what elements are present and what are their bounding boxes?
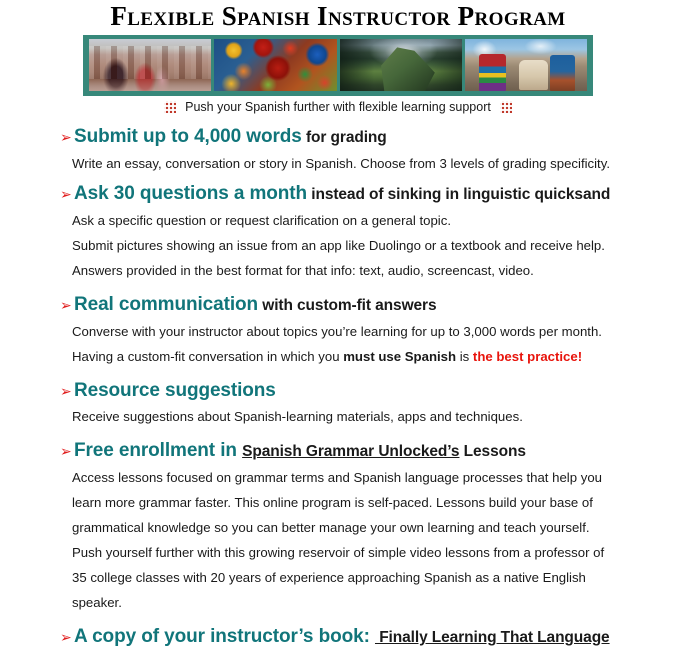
- paragraph-text: Answers provided in the best format for …: [72, 263, 534, 278]
- photo-banner: [83, 35, 593, 96]
- checkered-square-ornament-left: [164, 101, 176, 113]
- feature-paragraph: Receive suggestions about Spanish-learni…: [0, 404, 662, 429]
- paragraph-text: speaker.: [72, 595, 122, 610]
- feature-paragraph: Ask a specific question or request clari…: [0, 208, 662, 233]
- paragraph-text: Access lessons focused on grammar terms …: [72, 470, 602, 485]
- section-spacer: [0, 429, 662, 436]
- banner-image-machu-picchu-mountains: [340, 39, 462, 91]
- paragraph-text: Converse with your instructor about topi…: [72, 324, 602, 339]
- feature-heading-main: Real communication: [74, 294, 258, 315]
- paragraph-text: Push yourself further with this growing …: [72, 545, 604, 560]
- feature-heading-row: ➢Resource suggestions: [0, 376, 662, 404]
- feature-section-resource-suggestions: ➢Resource suggestionsReceive suggestions…: [0, 376, 662, 429]
- feature-section-real-communication: ➢Real communication with custom-fit answ…: [0, 290, 662, 369]
- llama-figure: [519, 60, 548, 90]
- section-spacer: [0, 283, 662, 290]
- section-spacer: [0, 369, 662, 376]
- banner-image-colonial-plaza-dancers: [89, 39, 211, 91]
- arrow-bullet-icon: ➢: [60, 126, 74, 148]
- checkered-square-ornament-right: [500, 101, 512, 113]
- banner-photo-strip: [89, 39, 587, 91]
- arrow-bullet-icon: ➢: [60, 626, 74, 648]
- paragraph-text: Submit pictures showing an issue from an…: [72, 238, 605, 253]
- paragraph-text: is: [456, 349, 473, 364]
- feature-section-a-copy-of-your-instructor-s-book: ➢A copy of your instructor’s book: Final…: [0, 622, 662, 651]
- feature-heading-main: A copy of your instructor’s book:: [74, 626, 370, 647]
- paragraph-text: grammatical knowledge so you can better …: [72, 520, 590, 535]
- section-spacer: [0, 615, 662, 622]
- feature-paragraph: 35 college classes with 20 years of expe…: [0, 565, 662, 590]
- feature-heading-main: Submit up to 4,000 words: [74, 126, 302, 147]
- paragraph-text: Ask a specific question or request clari…: [72, 213, 451, 228]
- feature-heading-sub: instead of sinking in linguistic quicksa…: [307, 186, 610, 203]
- paragraph-text: 35 college classes with 20 years of expe…: [72, 570, 586, 585]
- feature-heading-text: Real communication with custom-fit answe…: [74, 293, 662, 317]
- red-emphasis: the best practice!: [473, 349, 582, 364]
- feature-paragraph: grammatical knowledge so you can better …: [0, 515, 662, 540]
- feature-paragraph: learn more grammar faster. This online p…: [0, 490, 662, 515]
- feature-heading-main: Resource suggestions: [74, 380, 276, 401]
- feature-heading-row: ➢Free enrollment in Spanish Grammar Unlo…: [0, 436, 662, 465]
- page-title: Flexible Spanish Instructor Program: [0, 1, 676, 31]
- feature-heading-main: Ask 30 questions a month: [74, 183, 307, 204]
- feature-heading-text: Submit up to 4,000 words for grading: [74, 125, 662, 149]
- feature-paragraph: Converse with your instructor about topi…: [0, 319, 662, 344]
- arrow-bullet-icon: ➢: [60, 183, 74, 205]
- banner-image-andean-women-with-llamas: [465, 39, 587, 91]
- feature-heading-row: ➢A copy of your instructor’s book: Final…: [0, 622, 662, 651]
- feature-heading-text: Ask 30 questions a month instead of sink…: [74, 182, 662, 206]
- program-feature-list: ➢Submit up to 4,000 words for gradingWri…: [0, 122, 676, 654]
- feature-heading-sub: for grading: [302, 129, 387, 146]
- feature-heading-text: A copy of your instructor’s book: Finall…: [74, 625, 662, 649]
- feature-heading-row: ➢Submit up to 4,000 words for grading: [0, 122, 662, 151]
- banner-caption-row: Push your Spanish further with flexible …: [83, 99, 593, 115]
- feature-section-submit-up-to-4-000-words: ➢Submit up to 4,000 words for gradingWri…: [0, 122, 662, 176]
- feature-heading-sub: Lessons: [459, 443, 525, 460]
- feature-heading-sub: with custom-fit answers: [258, 297, 436, 314]
- paragraph-text: Having a custom-fit conversation in whic…: [72, 349, 343, 364]
- feature-paragraph: Submit pictures showing an issue from an…: [0, 233, 662, 258]
- feature-paragraph: Access lessons focused on grammar terms …: [0, 465, 662, 490]
- banner-caption-text: Push your Spanish further with flexible …: [185, 99, 491, 115]
- bold-emphasis: must use Spanish: [343, 349, 456, 364]
- feature-heading-main: Free enrollment in: [74, 440, 237, 461]
- arrow-bullet-icon: ➢: [60, 440, 74, 462]
- arrow-bullet-icon: ➢: [60, 380, 74, 402]
- feature-heading-underlined: Finally Learning That Language: [375, 629, 610, 646]
- feature-paragraph: speaker.: [0, 590, 662, 615]
- paragraph-text: learn more grammar faster. This online p…: [72, 495, 593, 510]
- paragraph-text: Write an essay, conversation or story in…: [72, 156, 610, 171]
- paragraph-text: Receive suggestions about Spanish-learni…: [72, 409, 523, 424]
- arrow-bullet-icon: ➢: [60, 294, 74, 316]
- feature-heading-row: ➢Ask 30 questions a month instead of sin…: [0, 179, 662, 208]
- feature-paragraph: Push yourself further with this growing …: [0, 540, 662, 565]
- feature-heading-row: ➢Real communication with custom-fit answ…: [0, 290, 662, 319]
- banner-image-spanish-food-spread: [214, 39, 336, 91]
- feature-section-ask-30-questions-a-month: ➢Ask 30 questions a month instead of sin…: [0, 179, 662, 283]
- feature-heading-text: Resource suggestions: [74, 379, 662, 402]
- feature-section-free-enrollment-in: ➢Free enrollment in Spanish Grammar Unlo…: [0, 436, 662, 615]
- feature-paragraph: Write an essay, conversation or story in…: [0, 151, 662, 176]
- feature-paragraph: Having a custom-fit conversation in whic…: [0, 344, 662, 369]
- feature-paragraph: Answers provided in the best format for …: [0, 258, 662, 283]
- feature-heading-text: Free enrollment in Spanish Grammar Unloc…: [74, 439, 662, 463]
- feature-heading-underlined: Spanish Grammar Unlocked’s: [242, 443, 459, 460]
